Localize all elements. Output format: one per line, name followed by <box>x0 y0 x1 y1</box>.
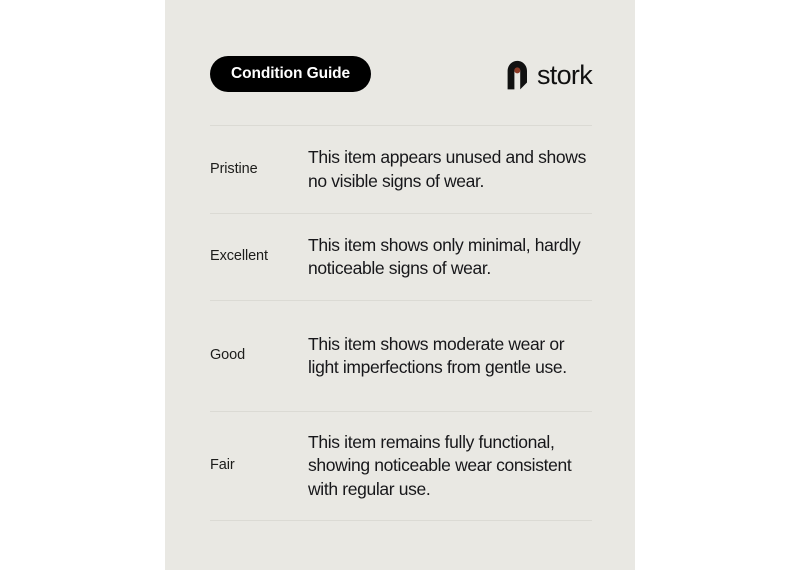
table-row: Good This item shows moderate wear or li… <box>210 301 592 411</box>
condition-description: This item appears unused and shows no vi… <box>308 146 592 193</box>
condition-guide-table: Pristine This item appears unused and sh… <box>210 125 592 521</box>
condition-description: This item remains fully functional, show… <box>308 431 592 501</box>
condition-label: Fair <box>210 457 308 474</box>
condition-label: Excellent <box>210 248 308 265</box>
condition-guide-badge-label: Condition Guide <box>231 66 350 82</box>
stork-arch-icon <box>504 59 530 90</box>
condition-label: Good <box>210 347 308 364</box>
condition-guide-card: Condition Guide stork Pristine This item… <box>165 0 635 570</box>
table-divider <box>210 520 592 521</box>
stork-logo: stork <box>504 55 592 93</box>
condition-description: This item shows moderate wear or light i… <box>308 333 592 380</box>
card-header: Condition Guide stork <box>210 56 592 92</box>
stork-wordmark: stork <box>537 62 592 89</box>
table-row: Excellent This item shows only minimal, … <box>210 214 592 300</box>
condition-guide-badge: Condition Guide <box>210 56 371 92</box>
table-row: Fair This item remains fully functional,… <box>210 412 592 520</box>
condition-label: Pristine <box>210 161 308 178</box>
table-row: Pristine This item appears unused and sh… <box>210 126 592 213</box>
condition-description: This item shows only minimal, hardly not… <box>308 234 592 281</box>
